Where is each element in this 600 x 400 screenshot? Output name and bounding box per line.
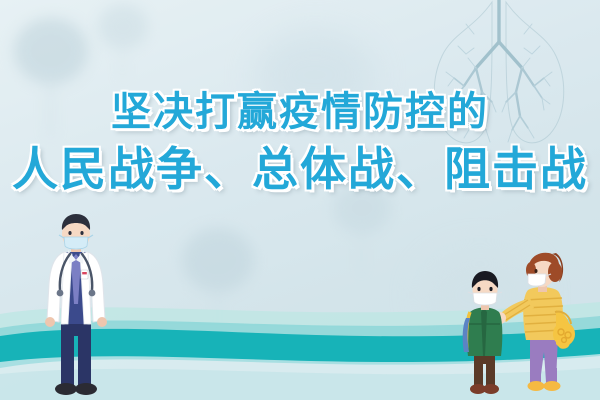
mother-shoe-left (528, 381, 545, 391)
lungs-icon (404, 0, 594, 169)
dandelion-silhouette (8, 18, 98, 138)
dandelion-head (14, 18, 88, 84)
boy-eye-left (477, 287, 480, 291)
doctor-shoe-left (55, 383, 77, 395)
dandelion-stem (49, 76, 52, 138)
dandelion-stem (121, 44, 124, 82)
doctor-mask (64, 237, 88, 249)
boy-eye-right (489, 287, 492, 291)
doctor-illustration (28, 208, 124, 400)
poster-canvas: 坚决打赢疫情防控的 人民战争、总体战、阻击战 (0, 0, 600, 400)
mother-eye (535, 269, 538, 273)
dandelion-head (333, 182, 391, 234)
doctor-eye-right (80, 231, 83, 235)
doctor-eye-left (68, 231, 71, 235)
dandelion-silhouette (96, 4, 156, 84)
mother-and-child-illustration (460, 248, 600, 400)
background-blob (255, 30, 375, 120)
doctor-hand-right (97, 317, 107, 327)
mother-shoe-right (544, 381, 561, 391)
doctor-hand-left (45, 317, 55, 327)
doctor-id-badge (81, 270, 88, 279)
mother-mask (528, 274, 546, 286)
doctor-shoe-right (75, 383, 97, 395)
dandelion-head (98, 4, 148, 49)
boy-mask (473, 293, 497, 305)
boy-shoe-right (483, 384, 499, 394)
